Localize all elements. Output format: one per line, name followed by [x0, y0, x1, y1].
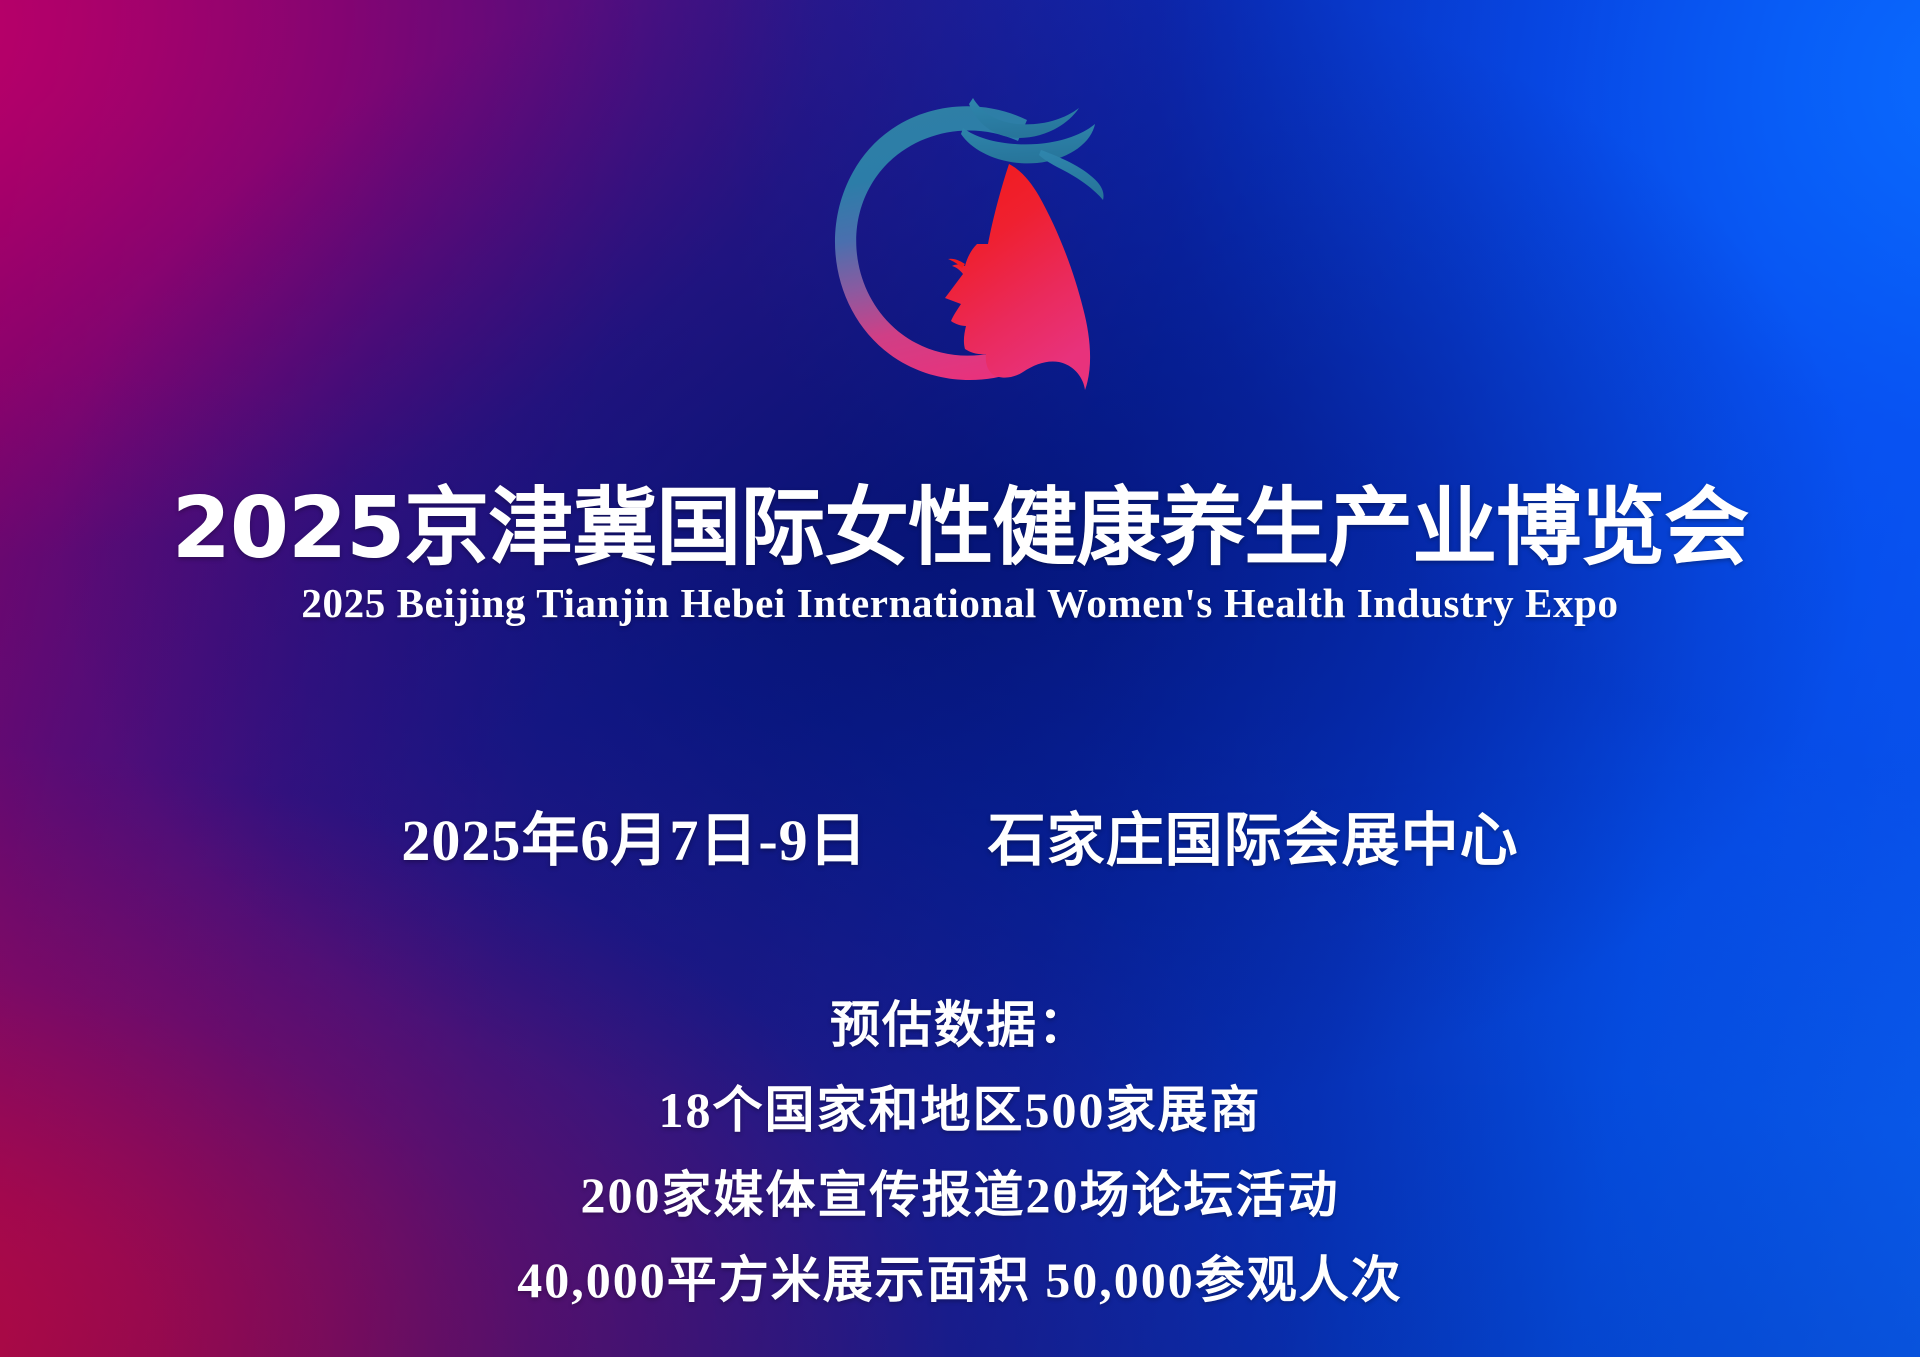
stat-line-media-forums: 200家媒体宣传报道20场论坛活动 — [0, 1170, 1920, 1220]
stat-line-area-visitors: 40,000平方米展示面积 50,000参观人次 — [0, 1255, 1920, 1305]
page-title-chinese: 2025京津冀国际女性健康养生产业博览会 — [0, 486, 1920, 571]
estimated-data-block: 预估数据： 18个国家和地区500家展商 200家媒体宣传报道20场论坛活动 4… — [0, 1000, 1920, 1305]
estimated-data-heading: 预估数据： — [0, 1000, 1920, 1050]
event-venue: 石家庄国际会展中心 — [988, 812, 1519, 870]
title-block: 2025京津冀国际女性健康养生产业博览会 2025 Beijing Tianji… — [0, 486, 1920, 626]
logo-container — [0, 68, 1920, 398]
logo-dragon-whisker — [1039, 150, 1104, 200]
page-title-english: 2025 Beijing Tianjin Hebei International… — [0, 581, 1920, 626]
stat-line-exhibitors: 18个国家和地区500家展商 — [0, 1085, 1920, 1135]
expo-poster: 2025京津冀国际女性健康养生产业博览会 2025 Beijing Tianji… — [0, 0, 1920, 1357]
event-date: 2025年6月7日-9日 — [401, 812, 867, 870]
women-health-dragon-logo-icon — [795, 68, 1125, 398]
logo-dragon-upper-horn — [969, 98, 1079, 138]
poster-content: 2025京津冀国际女性健康养生产业博览会 2025 Beijing Tianji… — [0, 0, 1920, 1357]
event-meta-row: 2025年6月7日-9日 石家庄国际会展中心 — [0, 812, 1920, 870]
